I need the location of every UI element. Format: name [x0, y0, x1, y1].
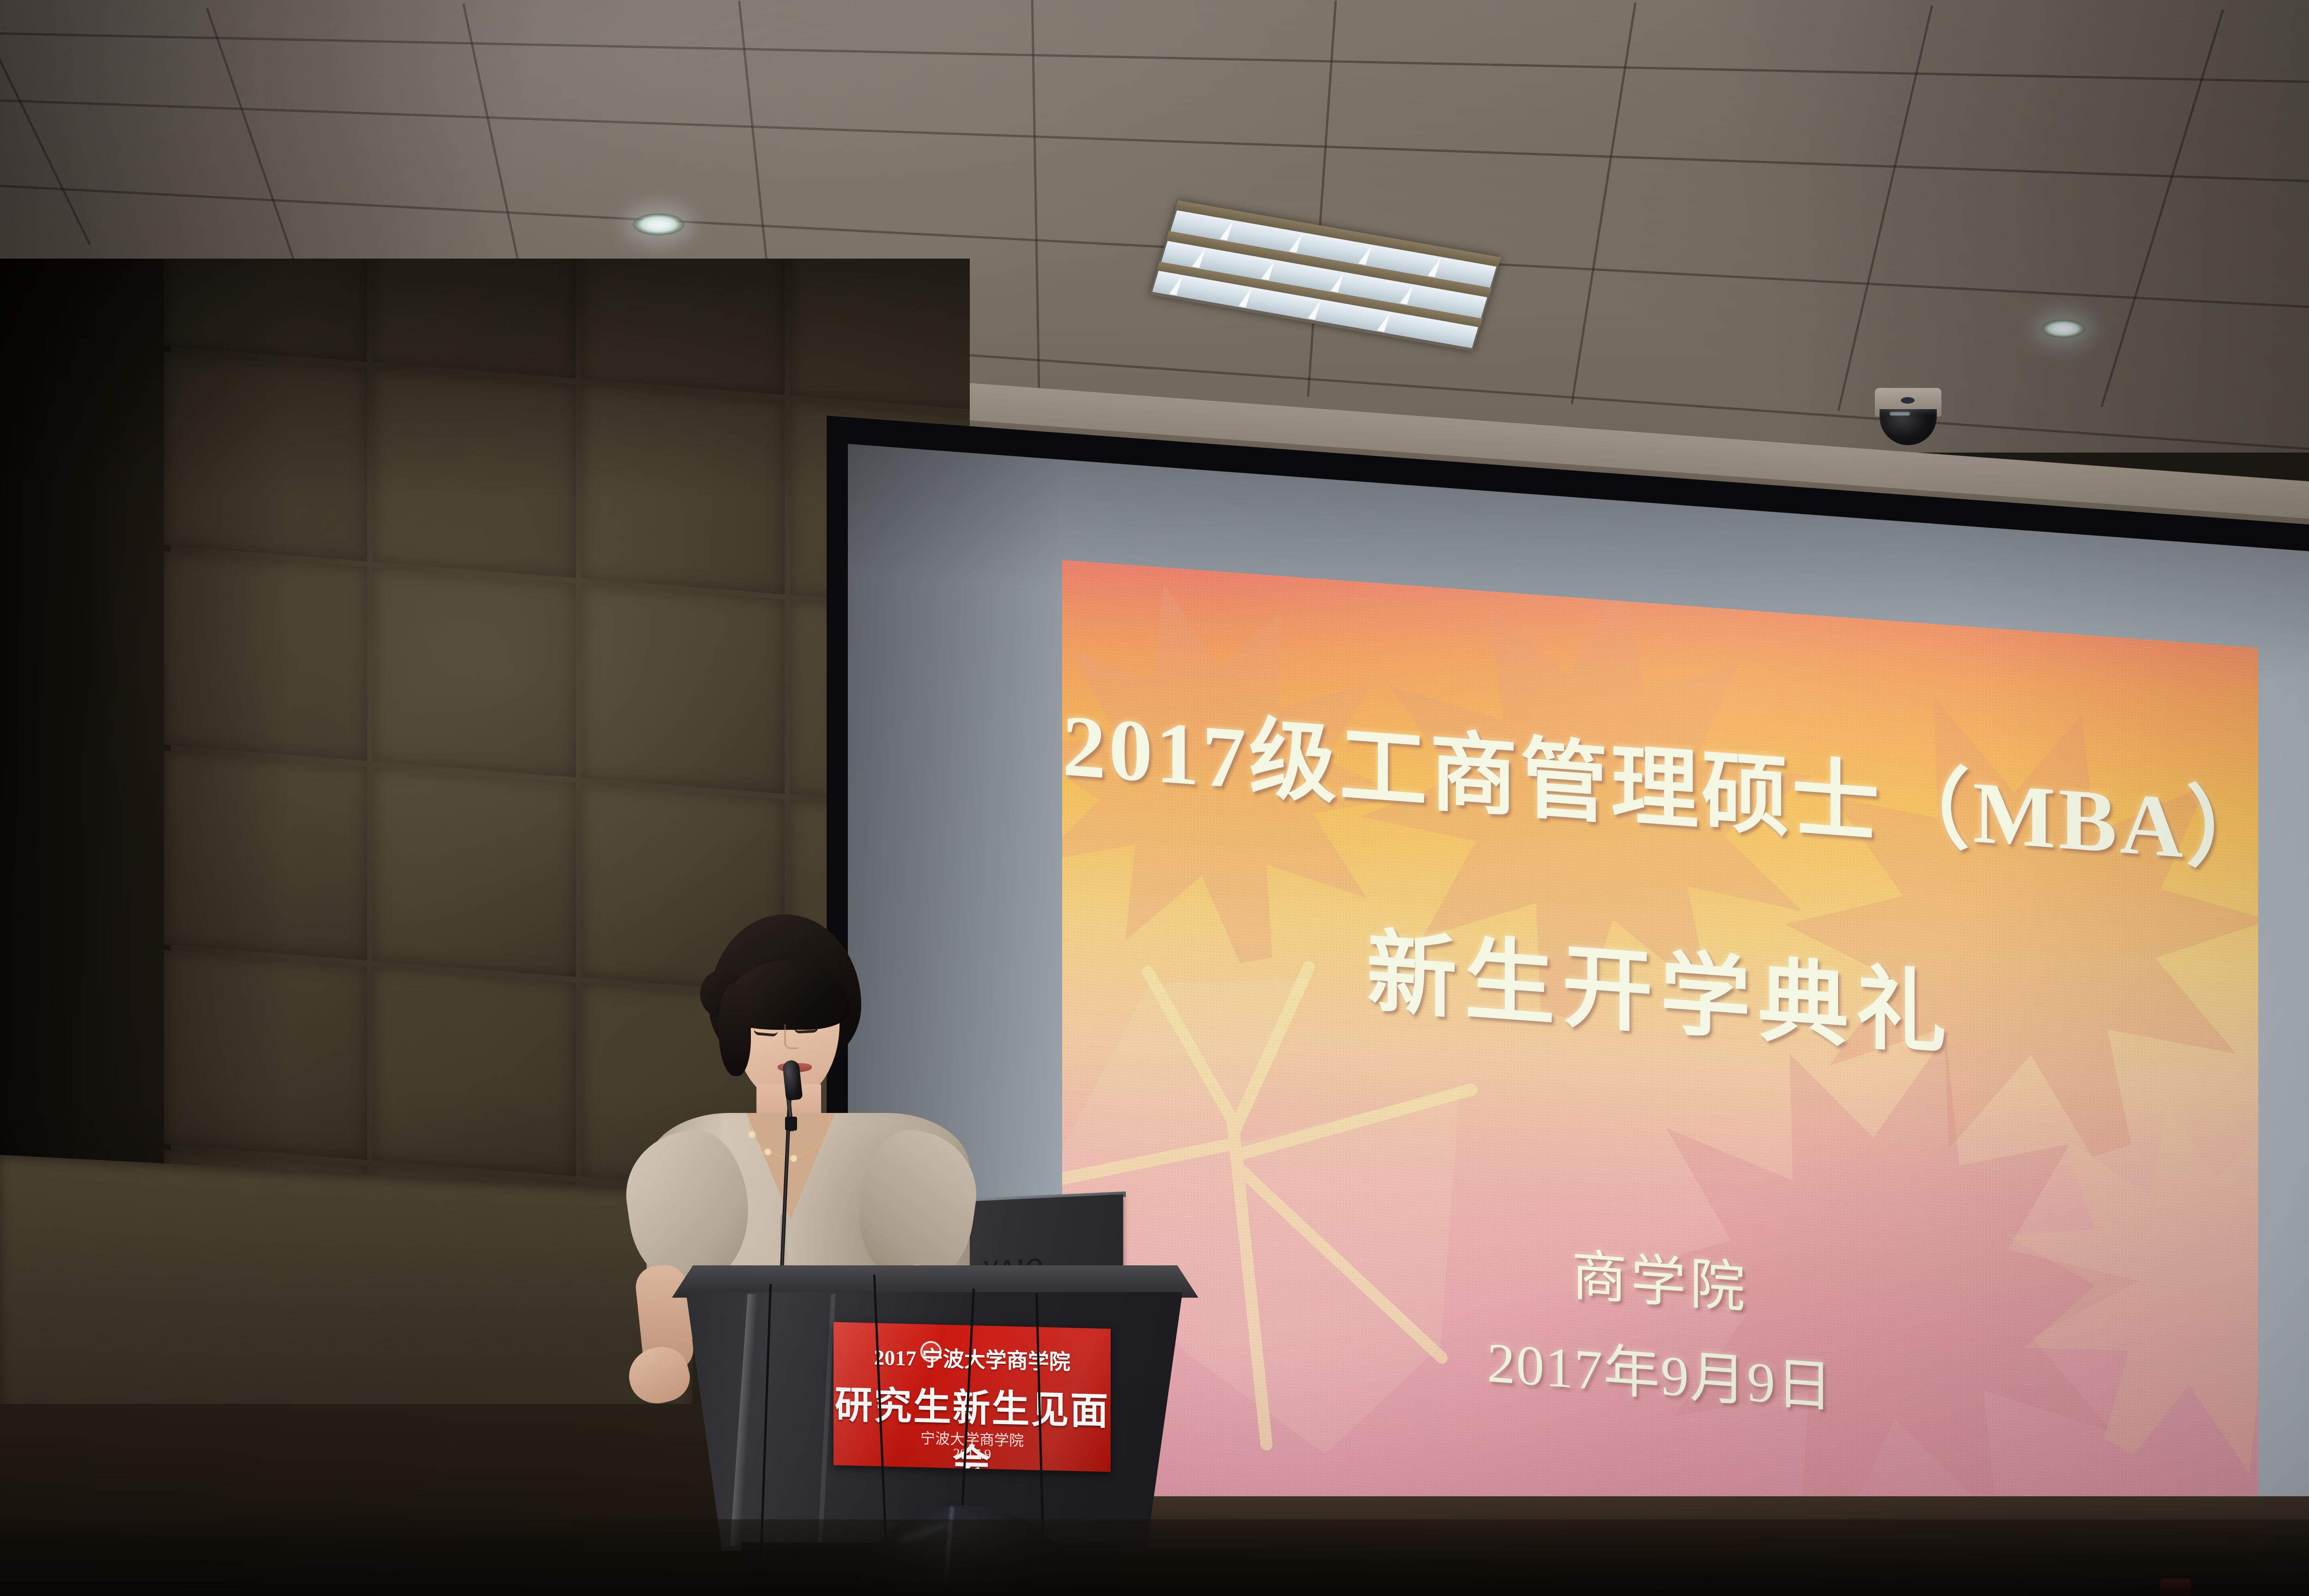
necklace-bead [765, 1149, 771, 1155]
foreground-shadow [0, 1519, 2309, 1596]
camera-led [1901, 397, 1915, 404]
necklace-bead [749, 1131, 755, 1137]
microphone-clip [785, 1117, 797, 1130]
university-seal-icon [920, 1341, 942, 1362]
nose [784, 1024, 798, 1049]
podium-banner: 2017 宁波大学商学院 研究生新生见面会 宁波大学商学院 2017.9 [834, 1322, 1111, 1472]
hair-side-strand [719, 984, 751, 1076]
slide-texture [1062, 560, 2258, 1596]
projected-slide: 2017级工商管理硕士（MBA） 新生开学典礼 商学院 2017年9月9日 [1062, 560, 2258, 1596]
photo-canvas: 2017级工商管理硕士（MBA） 新生开学典礼 商学院 2017年9月9日 VA… [0, 0, 2309, 1596]
dome-security-camera [1871, 388, 1945, 448]
eye-left [754, 1029, 778, 1037]
necklace-bead [791, 1155, 797, 1161]
camera-glass-reflection [1890, 412, 1910, 416]
